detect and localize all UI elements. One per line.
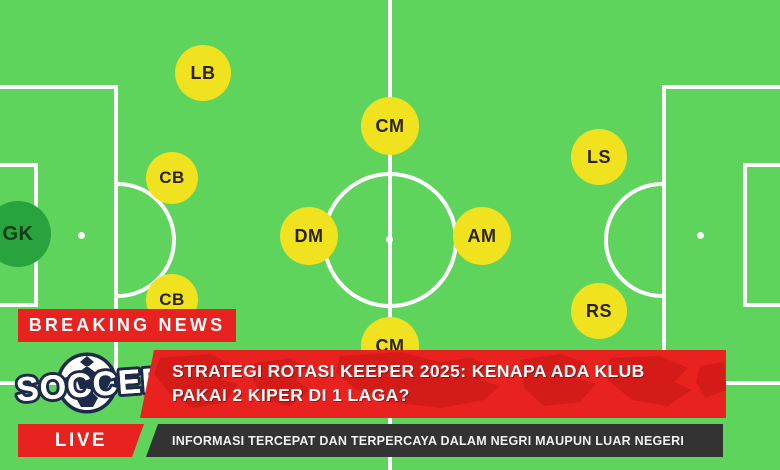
headline-banner: STRATEGI ROTASI KEEPER 2025: KENAPA ADA … [140, 350, 726, 418]
position-marker-cm1: CM [361, 97, 419, 155]
live-label: LIVE [55, 430, 107, 452]
position-marker-rs: RS [571, 283, 627, 339]
position-marker-ls: LS [571, 129, 627, 185]
broadcast-graphic: GKLBCBCBCMCMDMAMLSRS BREAKING NEWS SOCCE… [0, 0, 780, 470]
position-marker-cb1: CB [146, 152, 198, 204]
position-marker-label: LS [587, 147, 611, 168]
position-marker-label: CM [376, 116, 405, 137]
position-marker-am: AM [453, 207, 511, 265]
position-marker-label: LB [191, 63, 216, 84]
position-marker-label: GK [3, 223, 34, 246]
position-marker-label: CB [159, 168, 185, 188]
ticker-text: INFORMASI TERCEPAT DAN TERPERCAYA DALAM … [172, 434, 684, 448]
right-penalty-spot [697, 232, 704, 239]
news-ticker: INFORMASI TERCEPAT DAN TERPERCAYA DALAM … [146, 424, 723, 457]
breaking-news-label: BREAKING NEWS [29, 315, 226, 336]
right-six-yard-box [743, 163, 780, 307]
left-penalty-spot [78, 232, 85, 239]
position-marker-dm: DM [280, 207, 338, 265]
position-marker-lb: LB [175, 45, 231, 101]
headline-line-1: STRATEGI ROTASI KEEPER 2025: KENAPA ADA … [172, 359, 712, 383]
breaking-news-banner: BREAKING NEWS [18, 309, 236, 342]
position-marker-label: CB [159, 290, 185, 310]
position-marker-label: RS [586, 301, 612, 322]
position-marker-label: DM [295, 226, 324, 247]
headline-text: STRATEGI ROTASI KEEPER 2025: KENAPA ADA … [172, 359, 712, 407]
position-marker-label: AM [468, 226, 497, 247]
live-badge: LIVE [18, 424, 144, 457]
centre-spot [386, 236, 393, 243]
headline-line-2: PAKAI 2 KIPER DI 1 LAGA? [172, 383, 712, 407]
